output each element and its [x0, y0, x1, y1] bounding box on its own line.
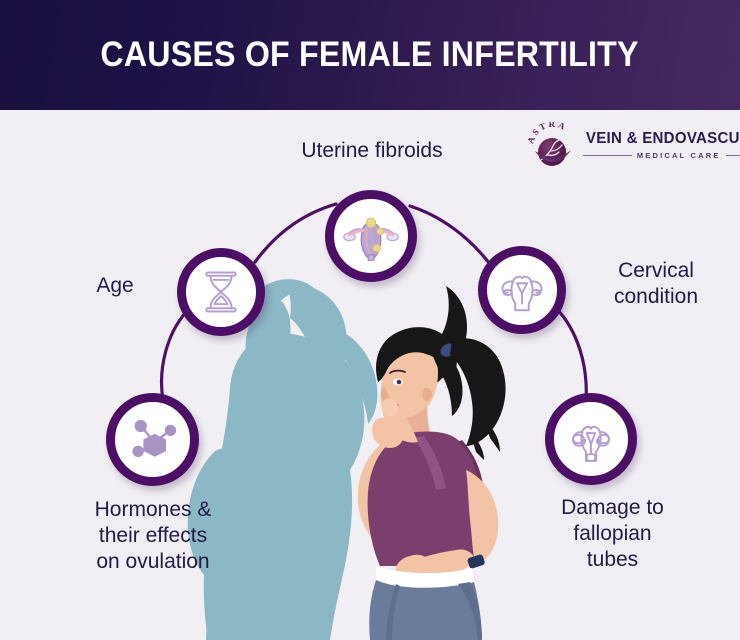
logo-subtitle: MEDICAL CARE: [637, 151, 721, 160]
brand-logo[interactable]: ASTRA VEIN & ENDOVASCULAR: [527, 121, 723, 169]
logo-wordmark: VEIN & ENDOVASCULAR MEDICAL CARE: [583, 130, 740, 160]
label-tubes-line1: Damage to: [520, 495, 705, 521]
logo-rule-left: [583, 155, 632, 157]
label-fallopian-tubes: Damage to fallopian tubes: [520, 495, 705, 573]
label-hormones-line3: on ovulation: [48, 549, 258, 575]
label-cervical-line1: Cervical: [576, 258, 736, 284]
logo-subtitle-row: MEDICAL CARE: [583, 151, 740, 160]
node-cervical-condition[interactable]: [478, 246, 566, 334]
logo-name: VEIN & ENDOVASCULAR: [586, 130, 740, 148]
label-hormones: Hormones & their effects on ovulation: [48, 497, 258, 575]
label-tubes-line3: tubes: [520, 547, 705, 573]
label-hormones-line2: their effects: [48, 523, 258, 549]
label-tubes-line2: fallopian: [520, 521, 705, 547]
label-cervical-condition: Cervical condition: [576, 258, 736, 310]
main-figure: [358, 286, 506, 640]
node-uterine-fibroids[interactable]: [325, 190, 417, 282]
molecule-icon: [115, 402, 190, 477]
label-hormones-line1: Hormones &: [48, 497, 258, 523]
cervix-icon: [487, 255, 557, 325]
astra-mark-icon: ASTRA: [527, 122, 579, 168]
node-hormones[interactable]: [106, 393, 199, 486]
hourglass-icon: [186, 257, 256, 327]
node-age[interactable]: [177, 248, 265, 336]
uterus-fibroids-icon: [334, 199, 408, 273]
label-uterine-fibroids: Uterine fibroids: [247, 138, 497, 164]
infographic-page: CAUSES OF FEMALE INFERTILITY: [0, 0, 740, 640]
node-fallopian-tubes[interactable]: [545, 393, 637, 485]
label-cervical-line2: condition: [576, 284, 736, 310]
label-age: Age: [60, 273, 170, 299]
logo-rule-right: [726, 155, 740, 157]
uterus-tubes-icon: [554, 402, 628, 476]
